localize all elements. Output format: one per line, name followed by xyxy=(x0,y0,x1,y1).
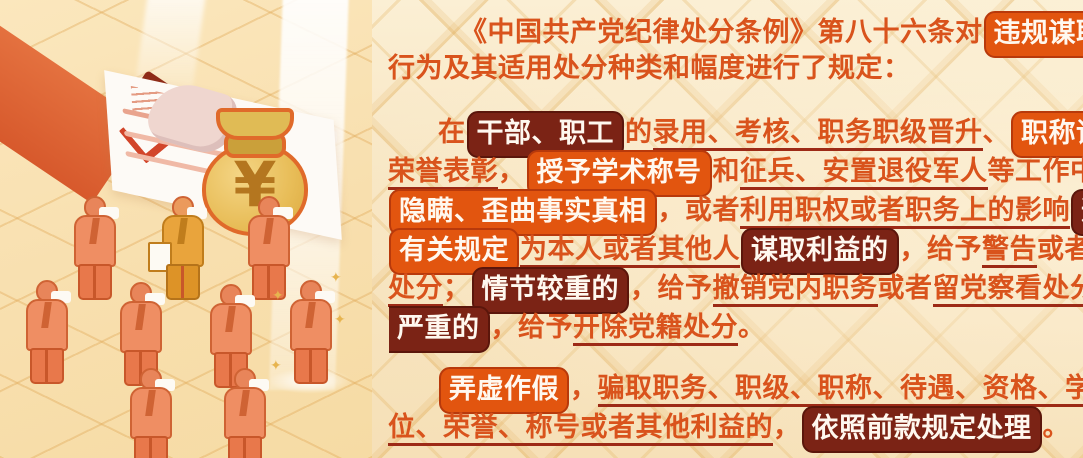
text-line: 弄虚作假，骗取职务、职级、职称、待遇、资格、学历、学 xyxy=(388,366,1077,405)
text-line: 隐瞒、歪曲事实真相，或者利用职权或者职务上的影响违反 xyxy=(388,188,1077,227)
crowd-figure xyxy=(128,368,174,458)
spotlit-figure xyxy=(288,280,334,384)
underlined-text: 骗取职务、职级、职称、待遇、资格、学历、学 xyxy=(598,373,1083,407)
figure-leg-split xyxy=(267,266,270,298)
highlight-pill: 依照前款规定处理 xyxy=(802,406,1042,453)
plain-text: 等工作中， xyxy=(988,156,1083,186)
article-text-column: 《中国共产党纪律处分条例》第八十六条对违规谋取人事利益行为及其适用处分种类和幅度… xyxy=(388,0,1083,458)
crowd-figure xyxy=(24,280,70,384)
figure-leg-split xyxy=(243,438,246,458)
plain-text: ，给予 xyxy=(491,312,574,342)
underlined-text: 荣誉表彰 xyxy=(388,156,498,190)
sparkle-icon: ✦ xyxy=(330,272,342,286)
underlined-text: 位、荣誉、称号或者其他利益的 xyxy=(388,412,773,446)
highlight-pill: 严重的 xyxy=(389,306,490,353)
crowd-figure xyxy=(72,196,118,300)
plain-text: 和 xyxy=(713,156,741,186)
plain-text: ，或者 xyxy=(658,195,741,225)
crowd-figure xyxy=(222,368,268,458)
figure-leg-split xyxy=(45,350,48,382)
figure-leg-split xyxy=(181,266,184,298)
underlined-text: 为本人或者其他人 xyxy=(520,234,740,268)
plain-text: ； xyxy=(443,273,471,303)
plain-text: 《中国共产党纪律处分条例》第八十六条对 xyxy=(460,17,983,47)
text-line: 严重的，给予开除党籍处分。 xyxy=(388,305,1077,344)
text-line: 《中国共产党纪律处分条例》第八十六条对违规谋取人事利益 xyxy=(388,10,1077,49)
plain-text: ，给予 xyxy=(900,234,983,264)
text-line: 在干部、职工的录用、考核、职务职级晋升、职称评聘、 xyxy=(388,110,1077,149)
plain-text: 或者 xyxy=(1037,234,1083,264)
article-body: 《中国共产党纪律处分条例》第八十六条对违规谋取人事利益行为及其适用处分种类和幅度… xyxy=(388,10,1077,444)
crowd-figure-highlighted xyxy=(160,196,206,300)
paragraph-article-86-clause-1: 在干部、职工的录用、考核、职务职级晋升、职称评聘、荣誉表彰，授予学术称号和征兵、… xyxy=(388,110,1077,344)
plain-text: 在 xyxy=(438,117,466,147)
underlined-text: 处分 xyxy=(388,273,443,307)
sparkle-icon: ✦ xyxy=(270,360,282,374)
underlined-text: 开除党籍处分 xyxy=(573,312,738,346)
paragraph-spacer xyxy=(388,88,1077,110)
figure-leg-split xyxy=(149,438,152,458)
figure-leg-split xyxy=(93,266,96,298)
figure-leg-split xyxy=(309,350,312,382)
text-line: 处分；情节较重的，给予撤销党内职务或者留党察看处分；情节 xyxy=(388,266,1077,305)
plain-text: ， xyxy=(498,156,526,186)
underlined-text: 留党察看处分 xyxy=(933,273,1083,307)
plain-text: ，给予 xyxy=(630,273,713,303)
poster-canvas: ¥ xyxy=(0,0,1083,458)
sparkle-icon: ✦ xyxy=(272,290,284,304)
plain-text: 或者 xyxy=(878,273,933,303)
plain-text: 、 xyxy=(983,117,1011,147)
underlined-text: 警告 xyxy=(982,234,1037,268)
text-line: 有关规定为本人或者其他人谋取利益的，给予警告或者严重警告 xyxy=(388,227,1077,266)
money-bag-top xyxy=(216,108,294,140)
plain-text: 行为及其适用处分种类和幅度进行了规定： xyxy=(388,53,911,83)
underlined-text: 征兵、安置退役军人 xyxy=(740,156,988,190)
text-line: 行为及其适用处分种类和幅度进行了规定： xyxy=(388,49,1077,88)
paragraph-article-86-clause-2: 弄虚作假，骗取职务、职级、职称、待遇、资格、学历、学位、荣誉、称号或者其他利益的… xyxy=(388,366,1077,444)
underlined-text: 录用、考核、职务职级晋升 xyxy=(653,117,983,151)
plain-text: ， xyxy=(773,412,801,442)
text-line: 荣誉表彰，授予学术称号和征兵、安置退役军人等工作中， xyxy=(388,149,1077,188)
underlined-text: 利用职权或者职务上的影响 xyxy=(740,195,1070,229)
plain-text: 。 xyxy=(738,312,766,342)
underlined-text: 撤销党内职务 xyxy=(713,273,878,307)
text-line: 位、荣誉、称号或者其他利益的，依照前款规定处理。 xyxy=(388,405,1077,444)
paragraph-spacer xyxy=(388,344,1077,366)
illustration-panel: ¥ xyxy=(0,0,372,458)
plain-text: 的 xyxy=(625,117,653,147)
plain-text: ， xyxy=(570,373,598,403)
plain-text: 。 xyxy=(1043,412,1071,442)
sparkle-icon: ✦ xyxy=(334,314,346,328)
paragraph-intro: 《中国共产党纪律处分条例》第八十六条对违规谋取人事利益行为及其适用处分种类和幅度… xyxy=(388,10,1077,88)
